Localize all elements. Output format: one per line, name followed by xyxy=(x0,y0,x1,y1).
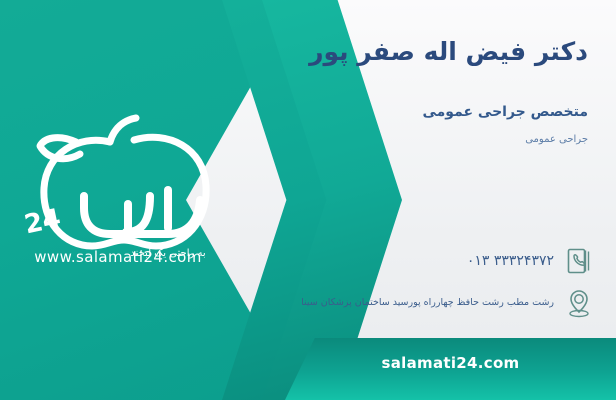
business-card: 24 به راحتی یک لبخند www.salamati24.com … xyxy=(0,0,616,400)
salamati24-logo: 24 به راحتی یک لبخند xyxy=(18,104,232,270)
doctor-name: دکتر فیض اله صفر پور xyxy=(258,36,588,67)
phone-number: ۳۳۳۲۴۳۷۲ ۰۱۳ xyxy=(234,253,554,269)
doctor-specialty: متخصص جراحی عمومی xyxy=(258,104,588,120)
phone-row[interactable]: ۳۳۳۲۴۳۷۲ ۰۱۳ xyxy=(234,246,594,276)
footer-website: salamati24.com xyxy=(382,354,520,384)
doctor-specialty-subtitle: جراحی عمومی xyxy=(258,134,588,145)
location-pin-icon xyxy=(564,288,594,318)
logo-website-url: www.salamati24.com xyxy=(18,248,218,266)
footer-bar[interactable]: salamati24.com xyxy=(285,338,616,400)
contact-block: ۳۳۳۲۴۳۷۲ ۰۱۳ رشت مطب رشت حافظ چهارراه پو… xyxy=(234,246,594,330)
address-row[interactable]: رشت مطب رشت حافظ چهارراه پورسید ساختمان … xyxy=(234,288,594,318)
phone-book-icon xyxy=(564,246,594,276)
clinic-address: رشت مطب رشت حافظ چهارراه پورسید ساختمان … xyxy=(234,296,554,309)
